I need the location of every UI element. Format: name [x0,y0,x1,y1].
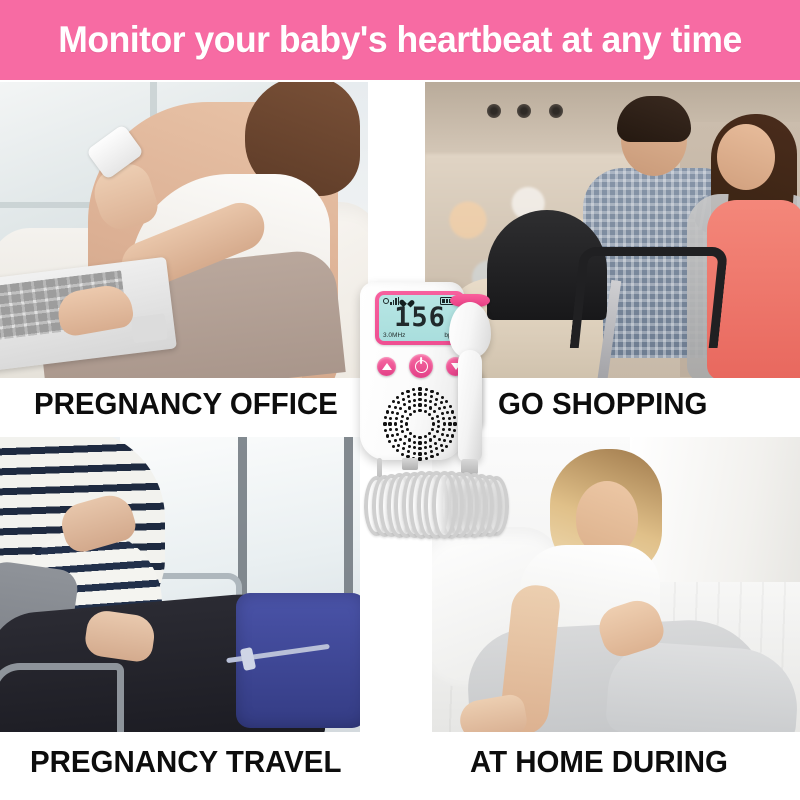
coiled-cable [364,472,504,534]
scene-backdrop [0,82,368,378]
caption-at-home-during: AT HOME DURING [470,744,728,780]
power-icon [415,360,428,373]
device-foot [402,458,418,470]
caption-go-shopping: GO SHOPPING [498,386,707,422]
caption-pregnancy-travel: PREGNANCY TRAVEL [30,744,341,780]
heart-icon [402,297,411,305]
ceiling-light [549,104,563,118]
probe-handle [458,350,482,462]
ceiling-light [487,104,501,118]
photo-pregnancy-travel [0,437,360,732]
terminal-chair [0,663,124,732]
laptop-trackpad [131,313,168,343]
frequency-label: 3.0MHz [383,332,405,339]
stroller-handle [570,247,729,348]
scene-backdrop [0,437,360,732]
woman-head [717,124,775,190]
up-button[interactable] [377,357,396,376]
suitcase [236,593,360,728]
woman-face [576,481,638,555]
headline-banner: Monitor your baby's heartbeat at any tim… [0,0,800,80]
power-button[interactable] [409,354,433,378]
suitcase-zipper-pull [240,647,256,671]
ultrasound-probe[interactable] [444,294,490,474]
caption-pregnancy-office: PREGNANCY OFFICE [34,386,338,422]
product-banner-page: Monitor your baby's heartbeat at any tim… [0,0,800,800]
ceiling-light [517,104,531,118]
fetal-doppler-device: 156 3.0MHz bpm [352,282,522,552]
headline-text: Monitor your baby's heartbeat at any tim… [58,19,742,61]
signal-dot-icon [383,298,389,304]
triangle-up-icon [382,363,392,370]
photo-pregnancy-office [0,82,368,378]
